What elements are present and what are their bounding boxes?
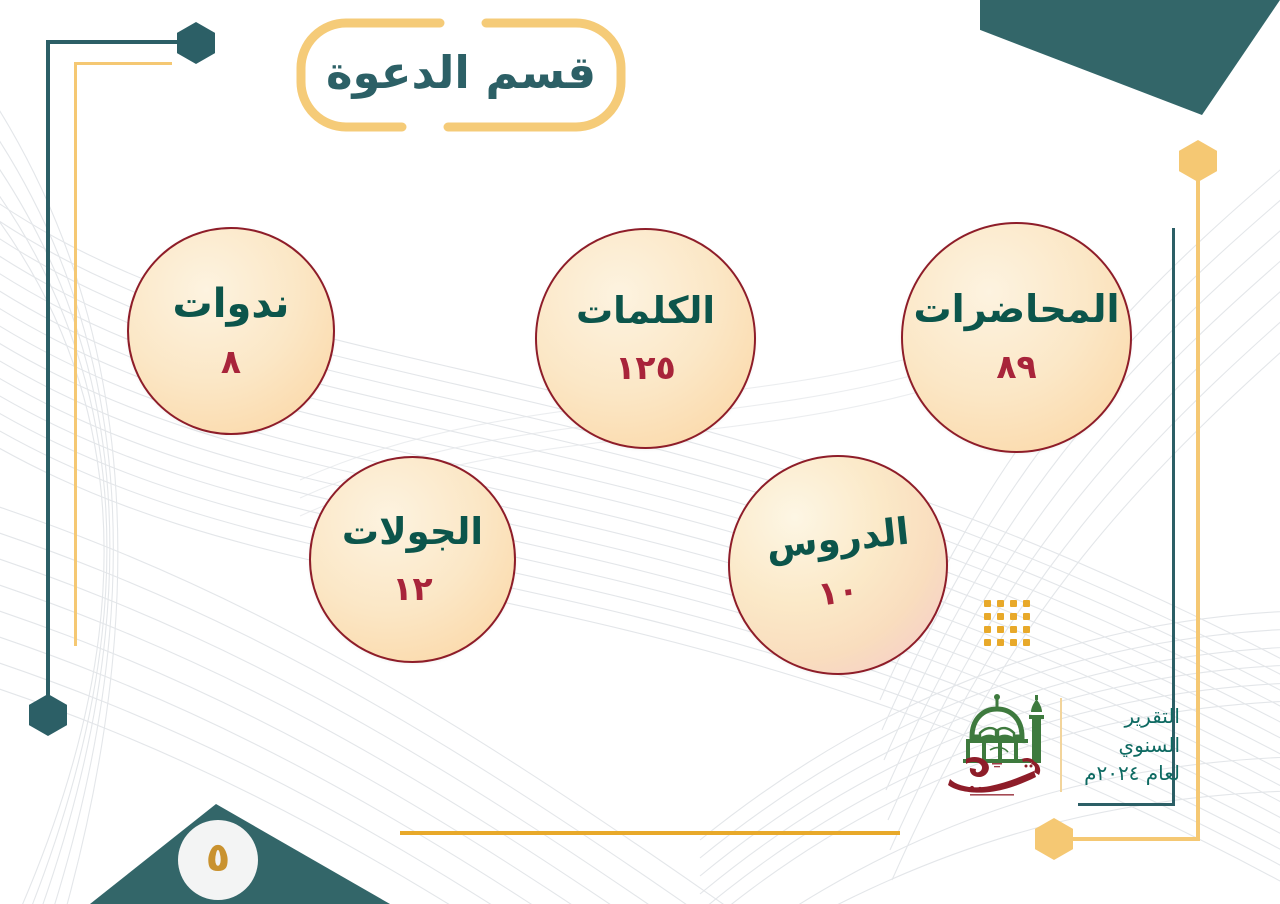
hexagon-icon-bottom-left bbox=[29, 694, 67, 736]
top-left-teal-horizontal-line bbox=[46, 40, 196, 44]
bottom-right-teal-horizontal-line bbox=[1078, 803, 1175, 806]
stat-circle-mohadarat[interactable]: المحاضرات ٨٩ bbox=[901, 222, 1132, 453]
hexagon-icon-top-left bbox=[177, 22, 215, 64]
caption-line-2: السنوي bbox=[1084, 731, 1180, 759]
top-left-gold-vertical-line bbox=[74, 62, 77, 646]
dot bbox=[984, 626, 991, 633]
dot bbox=[984, 639, 991, 646]
top-right-chevron-shape bbox=[980, 0, 1280, 115]
stat-label: الكلمات bbox=[576, 292, 715, 331]
stat-circle-kalimat[interactable]: الكلمات ١٢٥ bbox=[535, 228, 756, 449]
top-left-gold-horizontal-line bbox=[74, 62, 172, 65]
dot bbox=[1010, 626, 1017, 633]
stat-circle-jawlat[interactable]: الجولات ١٢ bbox=[309, 456, 516, 663]
dot bbox=[984, 600, 991, 607]
dot bbox=[1010, 600, 1017, 607]
footer-vertical-divider bbox=[1060, 698, 1062, 792]
stat-value: ٨ bbox=[221, 345, 241, 380]
dot bbox=[997, 639, 1004, 646]
stat-label: ندوات bbox=[173, 283, 290, 325]
annual-report-caption: التقرير السنوي لعام ٢٠٢٤م bbox=[1072, 702, 1180, 787]
page-number-label: ٥ bbox=[206, 838, 230, 878]
page-title: قسم الدعوة bbox=[290, 12, 632, 138]
stat-label: الجولات bbox=[342, 513, 483, 552]
caption-line-1: التقرير bbox=[1084, 702, 1180, 730]
stat-label: الدروس bbox=[765, 513, 912, 567]
hexagon-icon-top-right bbox=[1179, 140, 1217, 182]
dot bbox=[1010, 639, 1017, 646]
dot bbox=[1023, 613, 1030, 620]
dot bbox=[997, 626, 1004, 633]
bottom-amber-divider-rule bbox=[400, 831, 900, 835]
dot bbox=[1010, 613, 1017, 620]
hexagon-icon-bottom-right bbox=[1035, 818, 1073, 860]
dot bbox=[1023, 626, 1030, 633]
page-number-badge: ٥ bbox=[178, 820, 258, 900]
stat-label: المحاضرات bbox=[914, 290, 1120, 330]
dot bbox=[1023, 600, 1030, 607]
stat-value: ١٢ bbox=[392, 572, 432, 607]
top-left-teal-vertical-line bbox=[46, 40, 50, 715]
dot-grid-decoration bbox=[984, 600, 1030, 646]
bottom-right-gold-horizontal-line bbox=[1053, 837, 1200, 841]
right-gold-vertical-line bbox=[1196, 175, 1200, 840]
stat-circle-nadawat[interactable]: ندوات ٨ bbox=[127, 227, 335, 435]
dot bbox=[984, 613, 991, 620]
stat-value: ١٠ bbox=[816, 572, 861, 612]
slide-canvas: ٥ قسم الدعوة ندوات ٨ الكلمات ١٢٥ المحاضر… bbox=[0, 0, 1280, 904]
bani-kabir-association-logo-icon bbox=[936, 693, 1056, 797]
dot bbox=[997, 600, 1004, 607]
stat-value: ١٢٥ bbox=[615, 351, 675, 386]
dot bbox=[1023, 639, 1030, 646]
caption-line-3: لعام ٢٠٢٤م bbox=[1084, 759, 1180, 787]
page-title-text: قسم الدعوة bbox=[290, 12, 632, 138]
footer-block: التقرير السنوي لعام ٢٠٢٤م bbox=[905, 690, 1180, 800]
dot bbox=[997, 613, 1004, 620]
stat-value: ٨٩ bbox=[996, 350, 1036, 385]
stat-circle-duroos[interactable]: الدروس ١٠ bbox=[728, 455, 948, 675]
